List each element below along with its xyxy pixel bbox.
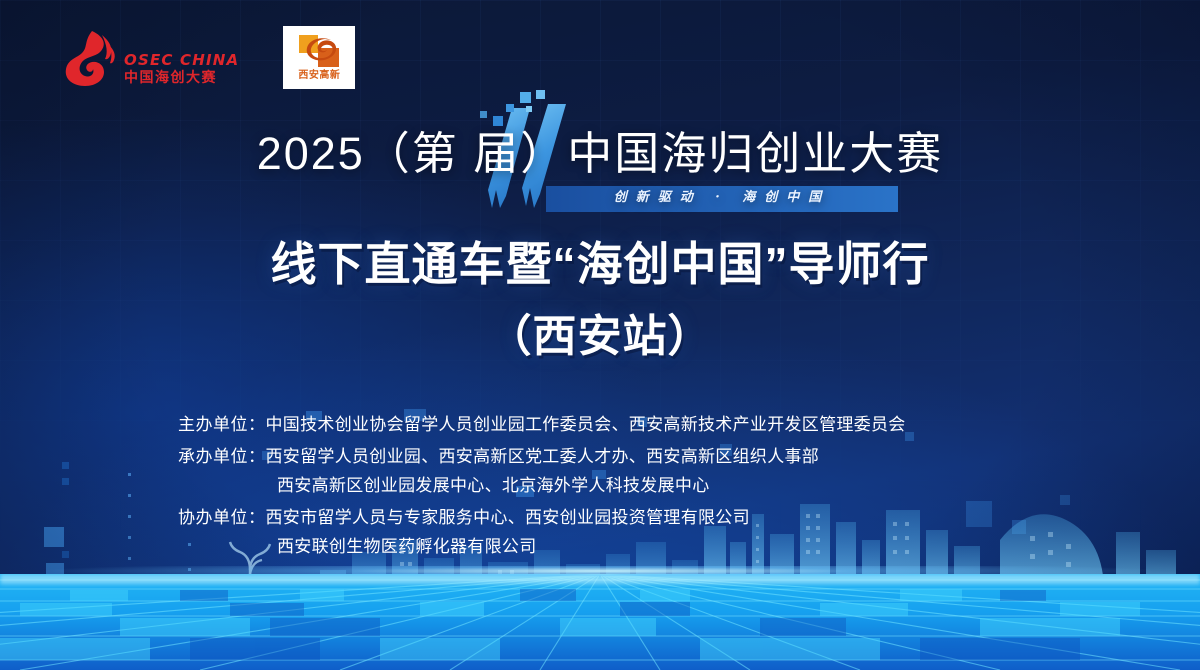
event-title-line1: 2025（第 届）中国海归创业大赛 创	[257, 128, 944, 212]
event-slogan-bar: 创新驱动 · 海创中国	[546, 186, 898, 212]
organizer-row: 西安联创生物医药孵化器有限公司	[178, 532, 906, 557]
event-title-line3: （西安站）	[0, 300, 1200, 364]
osec-logo-cn: 中国海创大赛	[124, 70, 239, 84]
xian-gaoxin-mark-icon	[298, 34, 340, 68]
organizer-value: 西安联创生物医药孵化器有限公司	[277, 532, 537, 557]
organizer-label: 主办单位：	[178, 410, 266, 435]
organizer-value: 西安市留学人员与专家服务中心、西安创业园投资管理有限公司	[266, 503, 750, 528]
logo-xian-hi-tech: 西安高新	[283, 26, 355, 89]
xian-hi-tech-label: 西安高新	[298, 71, 340, 81]
flame-icon	[62, 29, 118, 87]
event-title-line2: 线下直通车暨“海创中国”导师行	[0, 228, 1200, 294]
organizer-row: 主办单位： 中国技术创业协会留学人员创业园工作委员会、西安高新技术产业开发区管理…	[178, 410, 906, 435]
poster-canvas: OSEC CHINA 中国海创大赛 西安高新 2025（第 届）中国海归创业大赛	[0, 0, 1200, 670]
title-block: 2025（第 届）中国海归创业大赛 创	[0, 128, 1200, 364]
perspective-floor	[0, 574, 1200, 670]
organizer-value: 西安留学人员创业园、西安高新区党工委人才办、西安高新区组织人事部	[266, 442, 820, 467]
organizer-row: 协办单位： 西安市留学人员与专家服务中心、西安创业园投资管理有限公司	[178, 503, 906, 528]
organizers-block: 主办单位： 中国技术创业协会留学人员创业园工作委员会、西安高新技术产业开发区管理…	[178, 410, 906, 564]
organizer-row: 西安高新区创业园发展中心、北京海外学人科技发展中心	[178, 471, 906, 496]
osec-logo-en: OSEC CHINA	[124, 53, 239, 68]
logo-osec-china: OSEC CHINA 中国海创大赛	[62, 29, 239, 87]
organizer-value: 中国技术创业协会留学人员创业园工作委员会、西安高新技术产业开发区管理委员会	[266, 410, 906, 435]
organizer-label: 承办单位：	[178, 442, 266, 467]
event-slogan-text: 创新驱动 · 海创中国	[614, 191, 831, 206]
organizer-value: 西安高新区创业园发展中心、北京海外学人科技发展中心	[277, 471, 710, 496]
event-title-line1-text: 2025（第 届）中国海归创业大赛	[257, 128, 944, 179]
organizer-label: 协办单位：	[178, 503, 266, 528]
logo-bar: OSEC CHINA 中国海创大赛 西安高新	[62, 26, 355, 89]
horizon-glow	[0, 566, 1200, 576]
organizer-row: 承办单位： 西安留学人员创业园、西安高新区党工委人才办、西安高新区组织人事部	[178, 442, 906, 467]
